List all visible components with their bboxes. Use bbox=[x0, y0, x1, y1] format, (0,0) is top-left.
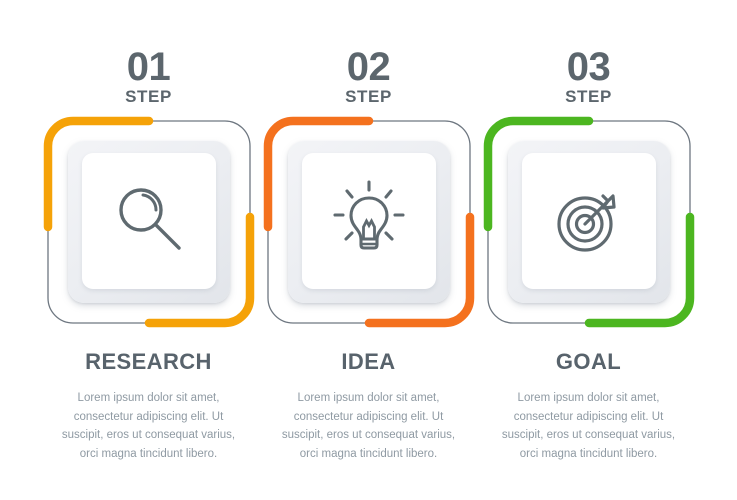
step-card-3[interactable]: 03 STEP bbox=[484, 0, 693, 464]
step-number-1: 01 bbox=[127, 48, 171, 86]
step-number-3: 03 bbox=[567, 48, 611, 86]
step-description-3: Lorem ipsum dolor sit amet, consectetur … bbox=[496, 389, 682, 464]
card-inner-3 bbox=[522, 153, 656, 289]
step-description-2: Lorem ipsum dolor sit amet, consectetur … bbox=[276, 389, 462, 464]
step-description-1: Lorem ipsum dolor sit amet, consectetur … bbox=[56, 389, 242, 464]
card-panel-3 bbox=[508, 141, 670, 303]
lightbulb-icon bbox=[325, 177, 413, 265]
step-word-1: STEP bbox=[125, 88, 172, 105]
step-frame-3[interactable] bbox=[486, 119, 692, 325]
steps-row: 01 STEP bbox=[0, 0, 737, 500]
infographic-three-steps: 01 STEP bbox=[0, 0, 737, 500]
step-frame-1[interactable] bbox=[46, 119, 252, 325]
step-card-2[interactable]: 02 STEP bbox=[264, 0, 473, 464]
target-icon bbox=[545, 177, 633, 265]
card-inner-1 bbox=[82, 153, 216, 289]
magnifier-icon bbox=[105, 177, 193, 265]
step-number-2: 02 bbox=[347, 48, 391, 86]
step-heading-3: 03 STEP bbox=[565, 48, 612, 105]
step-word-2: STEP bbox=[345, 88, 392, 105]
step-word-3: STEP bbox=[565, 88, 612, 105]
card-panel-2 bbox=[288, 141, 450, 303]
step-title-2: IDEA bbox=[341, 349, 395, 375]
step-heading-1: 01 STEP bbox=[125, 48, 172, 105]
step-title-1: RESEARCH bbox=[85, 349, 212, 375]
step-card-1[interactable]: 01 STEP bbox=[44, 0, 253, 464]
card-inner-2 bbox=[302, 153, 436, 289]
step-frame-2[interactable] bbox=[266, 119, 472, 325]
step-title-3: GOAL bbox=[556, 349, 621, 375]
step-heading-2: 02 STEP bbox=[345, 48, 392, 105]
card-panel-1 bbox=[68, 141, 230, 303]
